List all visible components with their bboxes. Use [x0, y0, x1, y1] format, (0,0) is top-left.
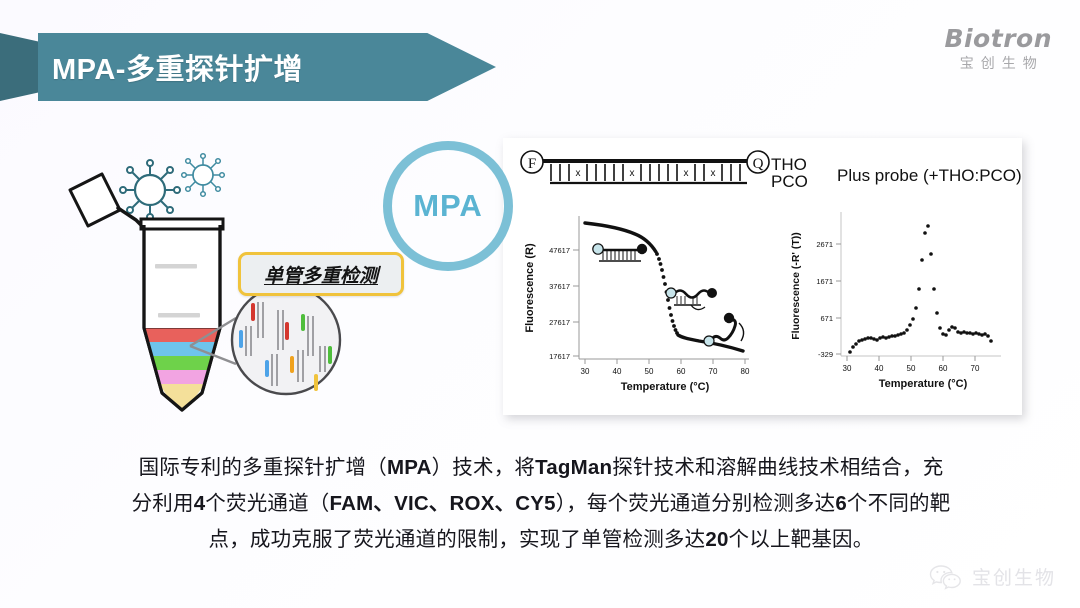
- p2-seg-d: FAM、VIC、ROX、CY5: [330, 492, 556, 515]
- tube-cap-icon: [70, 174, 144, 228]
- svg-text:70: 70: [709, 367, 718, 376]
- p2-seg-c: 个荧光通道（: [205, 492, 329, 515]
- probe-state-partial-icon: [666, 288, 717, 310]
- magnifier-lens: [232, 286, 340, 394]
- svg-text:80: 80: [741, 367, 750, 376]
- svg-text:40: 40: [613, 367, 622, 376]
- melt-curve-charts: 47617 37617 27617 17617: [511, 204, 1016, 404]
- brand-name-cn: 宝创生物: [944, 56, 1052, 70]
- deriv-ytick-0: -329: [818, 350, 833, 359]
- p2-seg-b: 4: [194, 492, 206, 515]
- p3-seg-b: 20: [705, 528, 728, 551]
- svg-text:60: 60: [677, 367, 686, 376]
- p2-seg-e: ），每个荧光通道分别检测多达: [556, 492, 836, 515]
- slide-root: MPA-多重探针扩增 Biotron 宝创生物: [0, 0, 1080, 608]
- svg-text:40: 40: [875, 364, 884, 373]
- p2-seg-f: 6: [835, 492, 847, 515]
- melt-ylabel: Fluorescence (R): [524, 243, 536, 333]
- svg-text:60: 60: [939, 364, 948, 373]
- p3-seg-a: 点，成功克服了荧光通道的限制，实现了单管检测多达: [209, 528, 706, 551]
- fluorophore-label: F: [528, 156, 536, 172]
- svg-text:30: 30: [581, 367, 590, 376]
- single-tube-badge: 单管多重检测: [238, 252, 404, 296]
- svg-text:x: x: [711, 168, 716, 179]
- brand-logo: Biotron 宝创生物: [944, 26, 1052, 70]
- page-title: MPA-多重探针扩增: [52, 33, 303, 101]
- svg-text:x: x: [630, 168, 635, 179]
- probe-schematic: F Q xx: [519, 150, 1019, 202]
- probe-state-closed-icon: [593, 244, 647, 261]
- svg-text:70: 70: [971, 364, 980, 373]
- p2-seg-a: 分利用: [132, 492, 194, 515]
- paragraph-line-3: 点，成功克服了荧光通道的限制，实现了单管检测多达20个以上靶基因。: [96, 522, 986, 558]
- deriv-xlabel: Temperature (°C): [879, 378, 968, 390]
- virus-icon-small: [182, 154, 225, 197]
- melt-ytick-2: 37617: [549, 282, 570, 291]
- tho-pco-labels: THO PCO: [771, 156, 808, 190]
- p1-seg-a: 国际专利的多重探针扩增（: [139, 456, 387, 479]
- deriv-ytick-1: 671: [820, 314, 833, 323]
- probe-state-open-icon: [704, 313, 744, 346]
- probe-caption: Plus probe (+THO:PCO): [837, 166, 1022, 186]
- svg-text:50: 50: [645, 367, 654, 376]
- tube-body-icon: [141, 219, 223, 410]
- p1-seg-b: MPA: [387, 456, 432, 479]
- charts-svg: 47617 37617 27617 17617: [511, 204, 1016, 404]
- svg-text:x: x: [684, 168, 689, 179]
- single-tube-badge-label: 单管多重检测: [264, 261, 378, 288]
- deriv-ytick-2: 1671: [816, 277, 833, 286]
- paragraph-line-2: 分利用4个荧光通道（FAM、VIC、ROX、CY5），每个荧光通道分别检测多达6…: [96, 486, 986, 522]
- p1-seg-e: 探针技术和溶解曲线技术相结合，充: [612, 456, 943, 479]
- deriv-curve-points: [848, 224, 993, 354]
- svg-text:30: 30: [843, 364, 852, 373]
- melt-ytick-1: 27617: [549, 318, 570, 327]
- mpa-circle-label: MPA: [413, 188, 483, 224]
- description-paragraph: 国际专利的多重探针扩增（MPA）技术，将TagMan探针技术和溶解曲线技术相结合…: [96, 450, 986, 558]
- banner-fold-shape: [0, 33, 40, 101]
- svg-text:50: 50: [907, 364, 916, 373]
- pco-label: PCO: [771, 173, 808, 190]
- paragraph-line-1: 国际专利的多重探针扩增（MPA）技术，将TagMan探针技术和溶解曲线技术相结合…: [96, 450, 986, 486]
- wechat-icon: [929, 564, 963, 590]
- melt-xlabel: Temperature (°C): [621, 381, 710, 393]
- title-banner: MPA-多重探针扩增: [0, 33, 500, 101]
- brand-name-en: Biotron: [944, 26, 1052, 51]
- wechat-watermark-label: 宝创生物: [972, 563, 1056, 590]
- wechat-watermark: 宝创生物: [929, 563, 1056, 590]
- p2-seg-g: 个不同的靶: [847, 492, 951, 515]
- p3-seg-c: 个以上靶基因。: [729, 528, 874, 551]
- figure-card: F Q xx: [503, 138, 1022, 415]
- melt-ytick-3: 47617: [549, 246, 570, 255]
- probe-schematic-svg: F Q xx: [519, 150, 779, 200]
- deriv-ytick-3: 2671: [816, 240, 833, 249]
- quencher-label: Q: [753, 156, 764, 172]
- mpa-circle-badge: MPA: [383, 141, 513, 271]
- melt-ytick-0: 17617: [549, 352, 570, 361]
- p1-seg-c: ）技术，将: [432, 456, 536, 479]
- chart-derivative-peak: 2671 1671 671 -329 3040 5060: [790, 212, 1001, 390]
- svg-text:x: x: [576, 168, 581, 179]
- deriv-ylabel: Fluorescence (-R' (T)): [790, 232, 802, 340]
- p1-seg-d: TagMan: [535, 456, 612, 479]
- virus-icon-large: [120, 160, 180, 220]
- tho-label: THO: [771, 156, 808, 173]
- chart-melt-curve: 47617 37617 27617 17617: [524, 216, 750, 393]
